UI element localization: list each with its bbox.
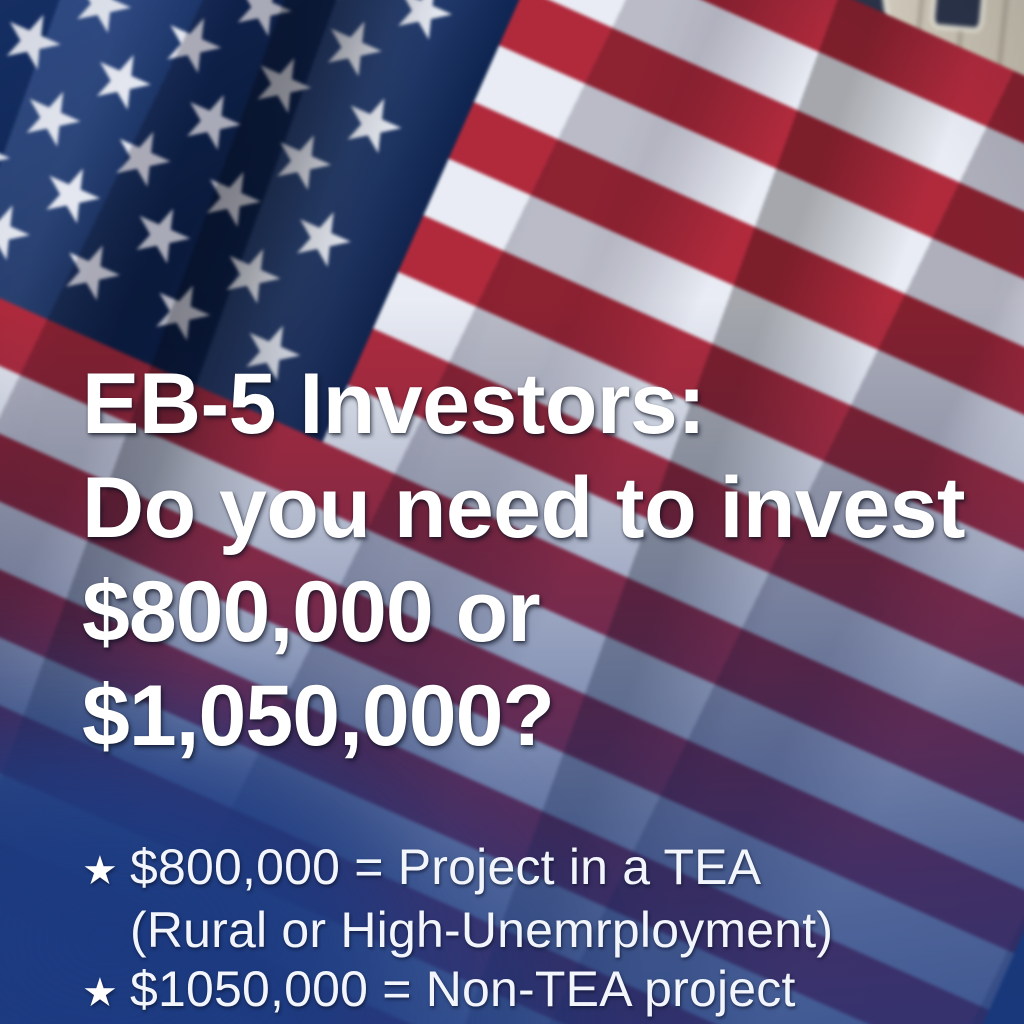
star-icon: ★ — [82, 964, 130, 1023]
poster-canvas: EB-5 Investors: Do you need to invest $8… — [0, 0, 1024, 1024]
bullet-text: $1050,000 = Non-TEA project — [130, 960, 796, 1019]
headline-line-2: Do you need to invest — [82, 456, 982, 560]
headline-block: EB-5 Investors: Do you need to invest $8… — [82, 352, 982, 768]
star-icon: ★ — [82, 842, 130, 901]
bullet-list: ★ $800,000 = Project in a TEA (Rural or … — [82, 838, 1002, 1023]
bullet-text: (Rural or High-Unemrployment) — [130, 901, 833, 960]
headline-line-3: $800,000 or — [82, 560, 982, 664]
headline-line-4: $1,050,000? — [82, 664, 982, 768]
headline-line-1: EB-5 Investors: — [82, 352, 982, 456]
bullet-item-tea-detail: (Rural or High-Unemrployment) — [82, 901, 1002, 960]
bullet-text: $800,000 = Project in a TEA — [130, 838, 761, 897]
bullet-item-tea: ★ $800,000 = Project in a TEA — [82, 838, 1002, 901]
bullet-item-non-tea: ★ $1050,000 = Non-TEA project — [82, 960, 1002, 1023]
